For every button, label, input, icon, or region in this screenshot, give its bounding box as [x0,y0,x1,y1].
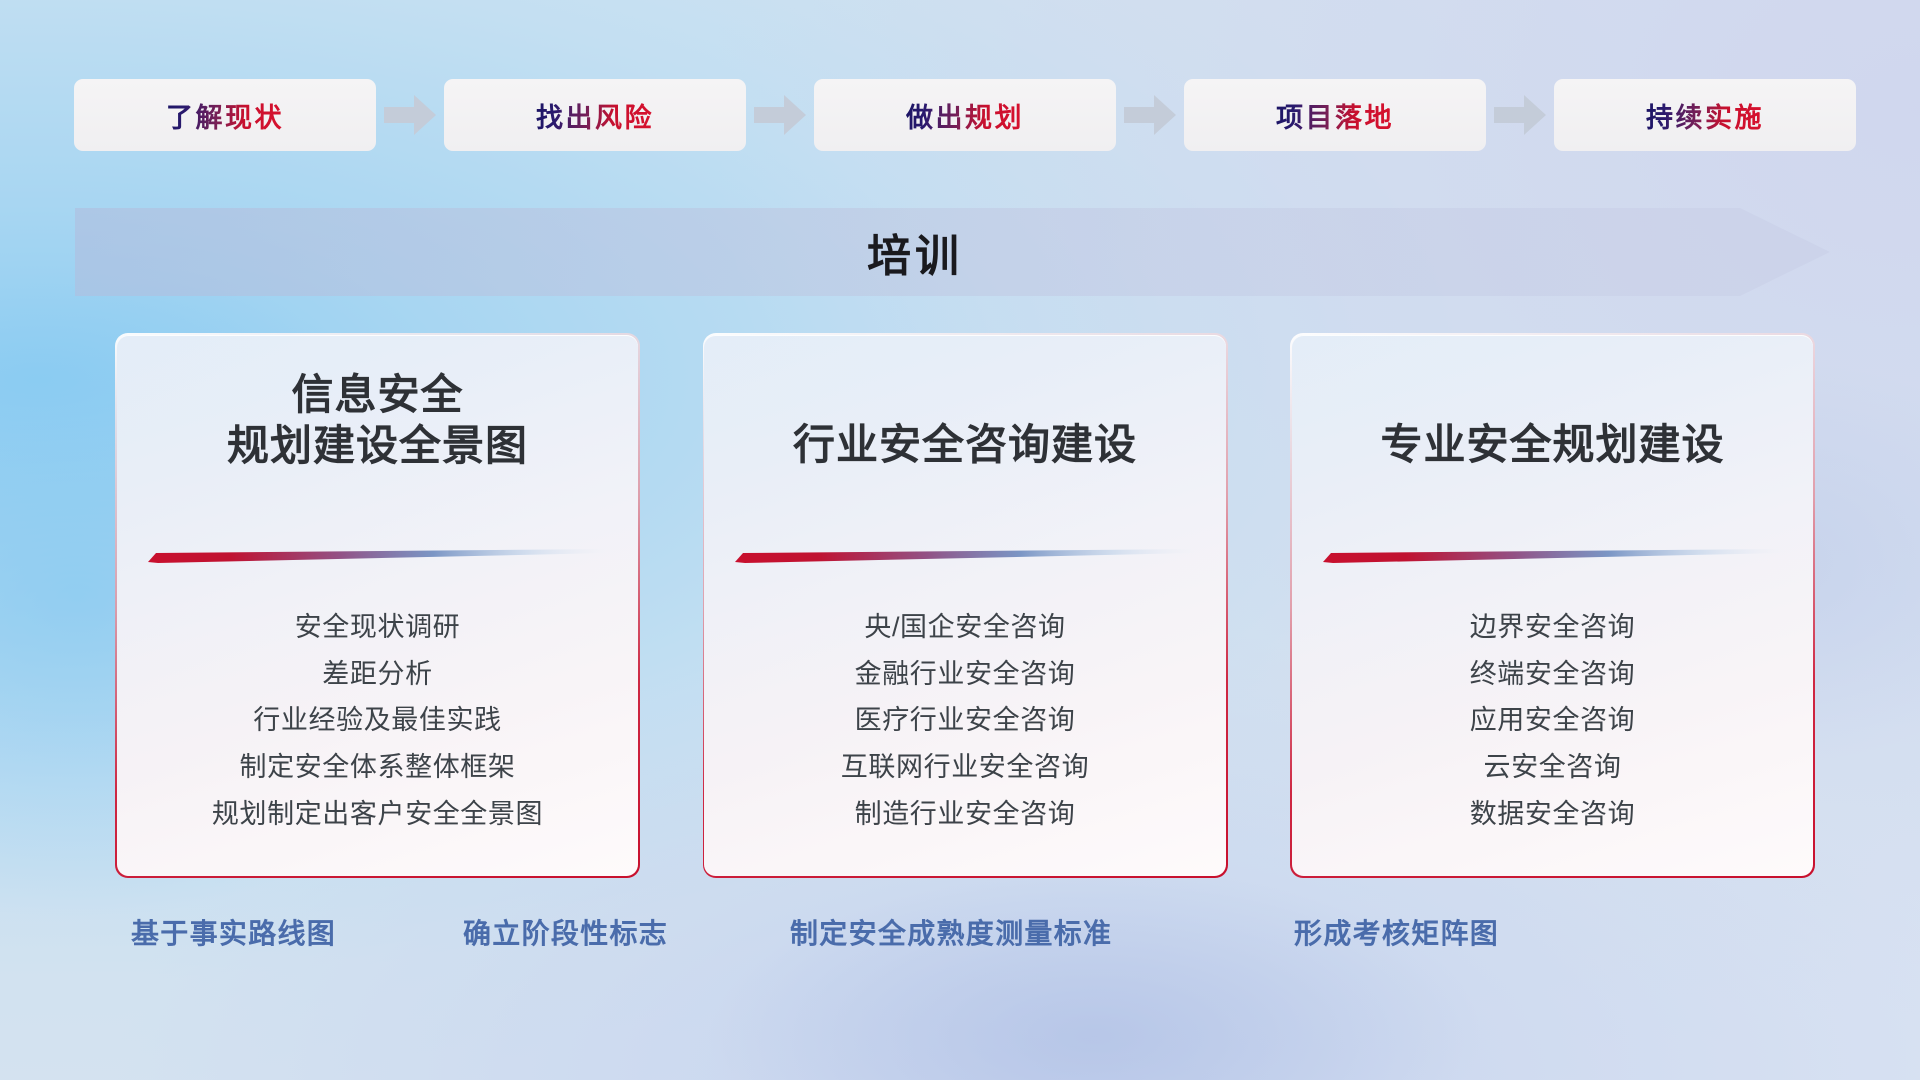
service-card-title-line: 规划建设全景图 [135,420,620,471]
process-step-label-wrap: 持续实施 [1646,96,1764,135]
service-card-title: 行业安全咨询建设 [704,419,1225,470]
list-item: 数据安全咨询 [1470,794,1636,836]
list-item: 互联网行业安全咨询 [841,747,1089,789]
process-step-label-wrap: 了解现状 [166,96,284,135]
list-item: 差距分析 [322,654,432,696]
card-divider-wrap [704,549,1225,565]
list-item: 应用安全咨询 [1470,700,1636,742]
list-item: 安全现状调研 [295,607,461,649]
caption-1: 基于事实路线图 [131,912,336,952]
process-step-label: 持续实施 [1646,103,1764,133]
training-banner: 培训 [75,208,1830,296]
service-card-list: 边界安全咨询终端安全咨询应用安全咨询云安全咨询数据安全咨询 [1292,607,1813,836]
service-card-title-line: 信息安全 [135,369,620,420]
service-card-title: 专业安全规划建设 [1292,419,1813,470]
card-divider-accent-line [148,549,608,563]
service-card-2[interactable]: 行业安全咨询建设央/国企安全咨询金融行业安全咨询医疗行业安全咨询互联网行业安全咨… [703,333,1228,878]
cards-row: 信息安全规划建设全景图安全现状调研差距分析行业经验及最佳实践制定安全体系整体框架… [115,333,1815,878]
process-step-label: 找出风险 [536,103,654,133]
list-item: 行业经验及最佳实践 [253,700,501,742]
process-step-label: 做出规划 [906,103,1024,133]
service-card-1[interactable]: 信息安全规划建设全景图安全现状调研差距分析行业经验及最佳实践制定安全体系整体框架… [115,333,640,878]
service-card-title-line: 专业安全规划建设 [1310,419,1795,470]
process-step-label: 项目落地 [1276,103,1394,133]
service-card-inner: 专业安全规划建设边界安全咨询终端安全咨询应用安全咨询云安全咨询数据安全咨询 [1292,335,1813,876]
process-step-1[interactable]: 了解现状 [74,79,376,151]
list-item: 规划制定出客户安全全景图 [212,794,543,836]
list-item: 制造行业安全咨询 [855,794,1076,836]
caption-2: 确立阶段性标志 [463,912,668,952]
list-item: 边界安全咨询 [1470,607,1636,649]
service-card-list: 安全现状调研差距分析行业经验及最佳实践制定安全体系整体框架规划制定出客户安全全景… [117,607,638,836]
arrow-right-icon [746,79,814,151]
card-divider-wrap [117,549,638,565]
process-steps-row: 了解现状找出风险做出规划项目落地持续实施 [74,78,1854,152]
service-card-inner: 信息安全规划建设全景图安全现状调研差距分析行业经验及最佳实践制定安全体系整体框架… [117,335,638,876]
service-card-3[interactable]: 专业安全规划建设边界安全咨询终端安全咨询应用安全咨询云安全咨询数据安全咨询 [1290,333,1815,878]
captions-row: 基于事实路线图确立阶段性标志制定安全成熟度测量标准形成考核矩阵图 [0,912,1920,966]
card-divider-accent-line [735,549,1195,563]
arrow-right-icon [1116,79,1184,151]
process-step-2[interactable]: 找出风险 [444,79,746,151]
service-card-list: 央/国企安全咨询金融行业安全咨询医疗行业安全咨询互联网行业安全咨询制造行业安全咨… [704,607,1225,836]
list-item: 医疗行业安全咨询 [855,700,1076,742]
process-step-label-wrap: 项目落地 [1276,96,1394,135]
banner-title: 培训 [75,208,1755,296]
card-divider-wrap [1292,549,1813,565]
list-item: 云安全咨询 [1484,747,1622,789]
arrow-right-icon [1486,79,1554,151]
caption-3: 制定安全成熟度测量标准 [790,912,1112,952]
process-step-4[interactable]: 项目落地 [1184,79,1486,151]
process-step-label-wrap: 找出风险 [536,96,654,135]
process-step-3[interactable]: 做出规划 [814,79,1116,151]
caption-4: 形成考核矩阵图 [1294,912,1499,952]
list-item: 金融行业安全咨询 [855,654,1076,696]
service-card-inner: 行业安全咨询建设央/国企安全咨询金融行业安全咨询医疗行业安全咨询互联网行业安全咨… [704,335,1225,876]
service-card-title: 信息安全规划建设全景图 [117,369,638,471]
process-step-5[interactable]: 持续实施 [1554,79,1856,151]
process-step-label: 了解现状 [166,103,284,133]
process-step-label-wrap: 做出规划 [906,96,1024,135]
arrow-right-icon [376,79,444,151]
list-item: 终端安全咨询 [1470,654,1636,696]
list-item: 制定安全体系整体框架 [240,747,516,789]
service-card-title-line: 行业安全咨询建设 [722,419,1207,470]
card-divider-accent-line [1323,549,1783,563]
list-item: 央/国企安全咨询 [864,607,1065,649]
